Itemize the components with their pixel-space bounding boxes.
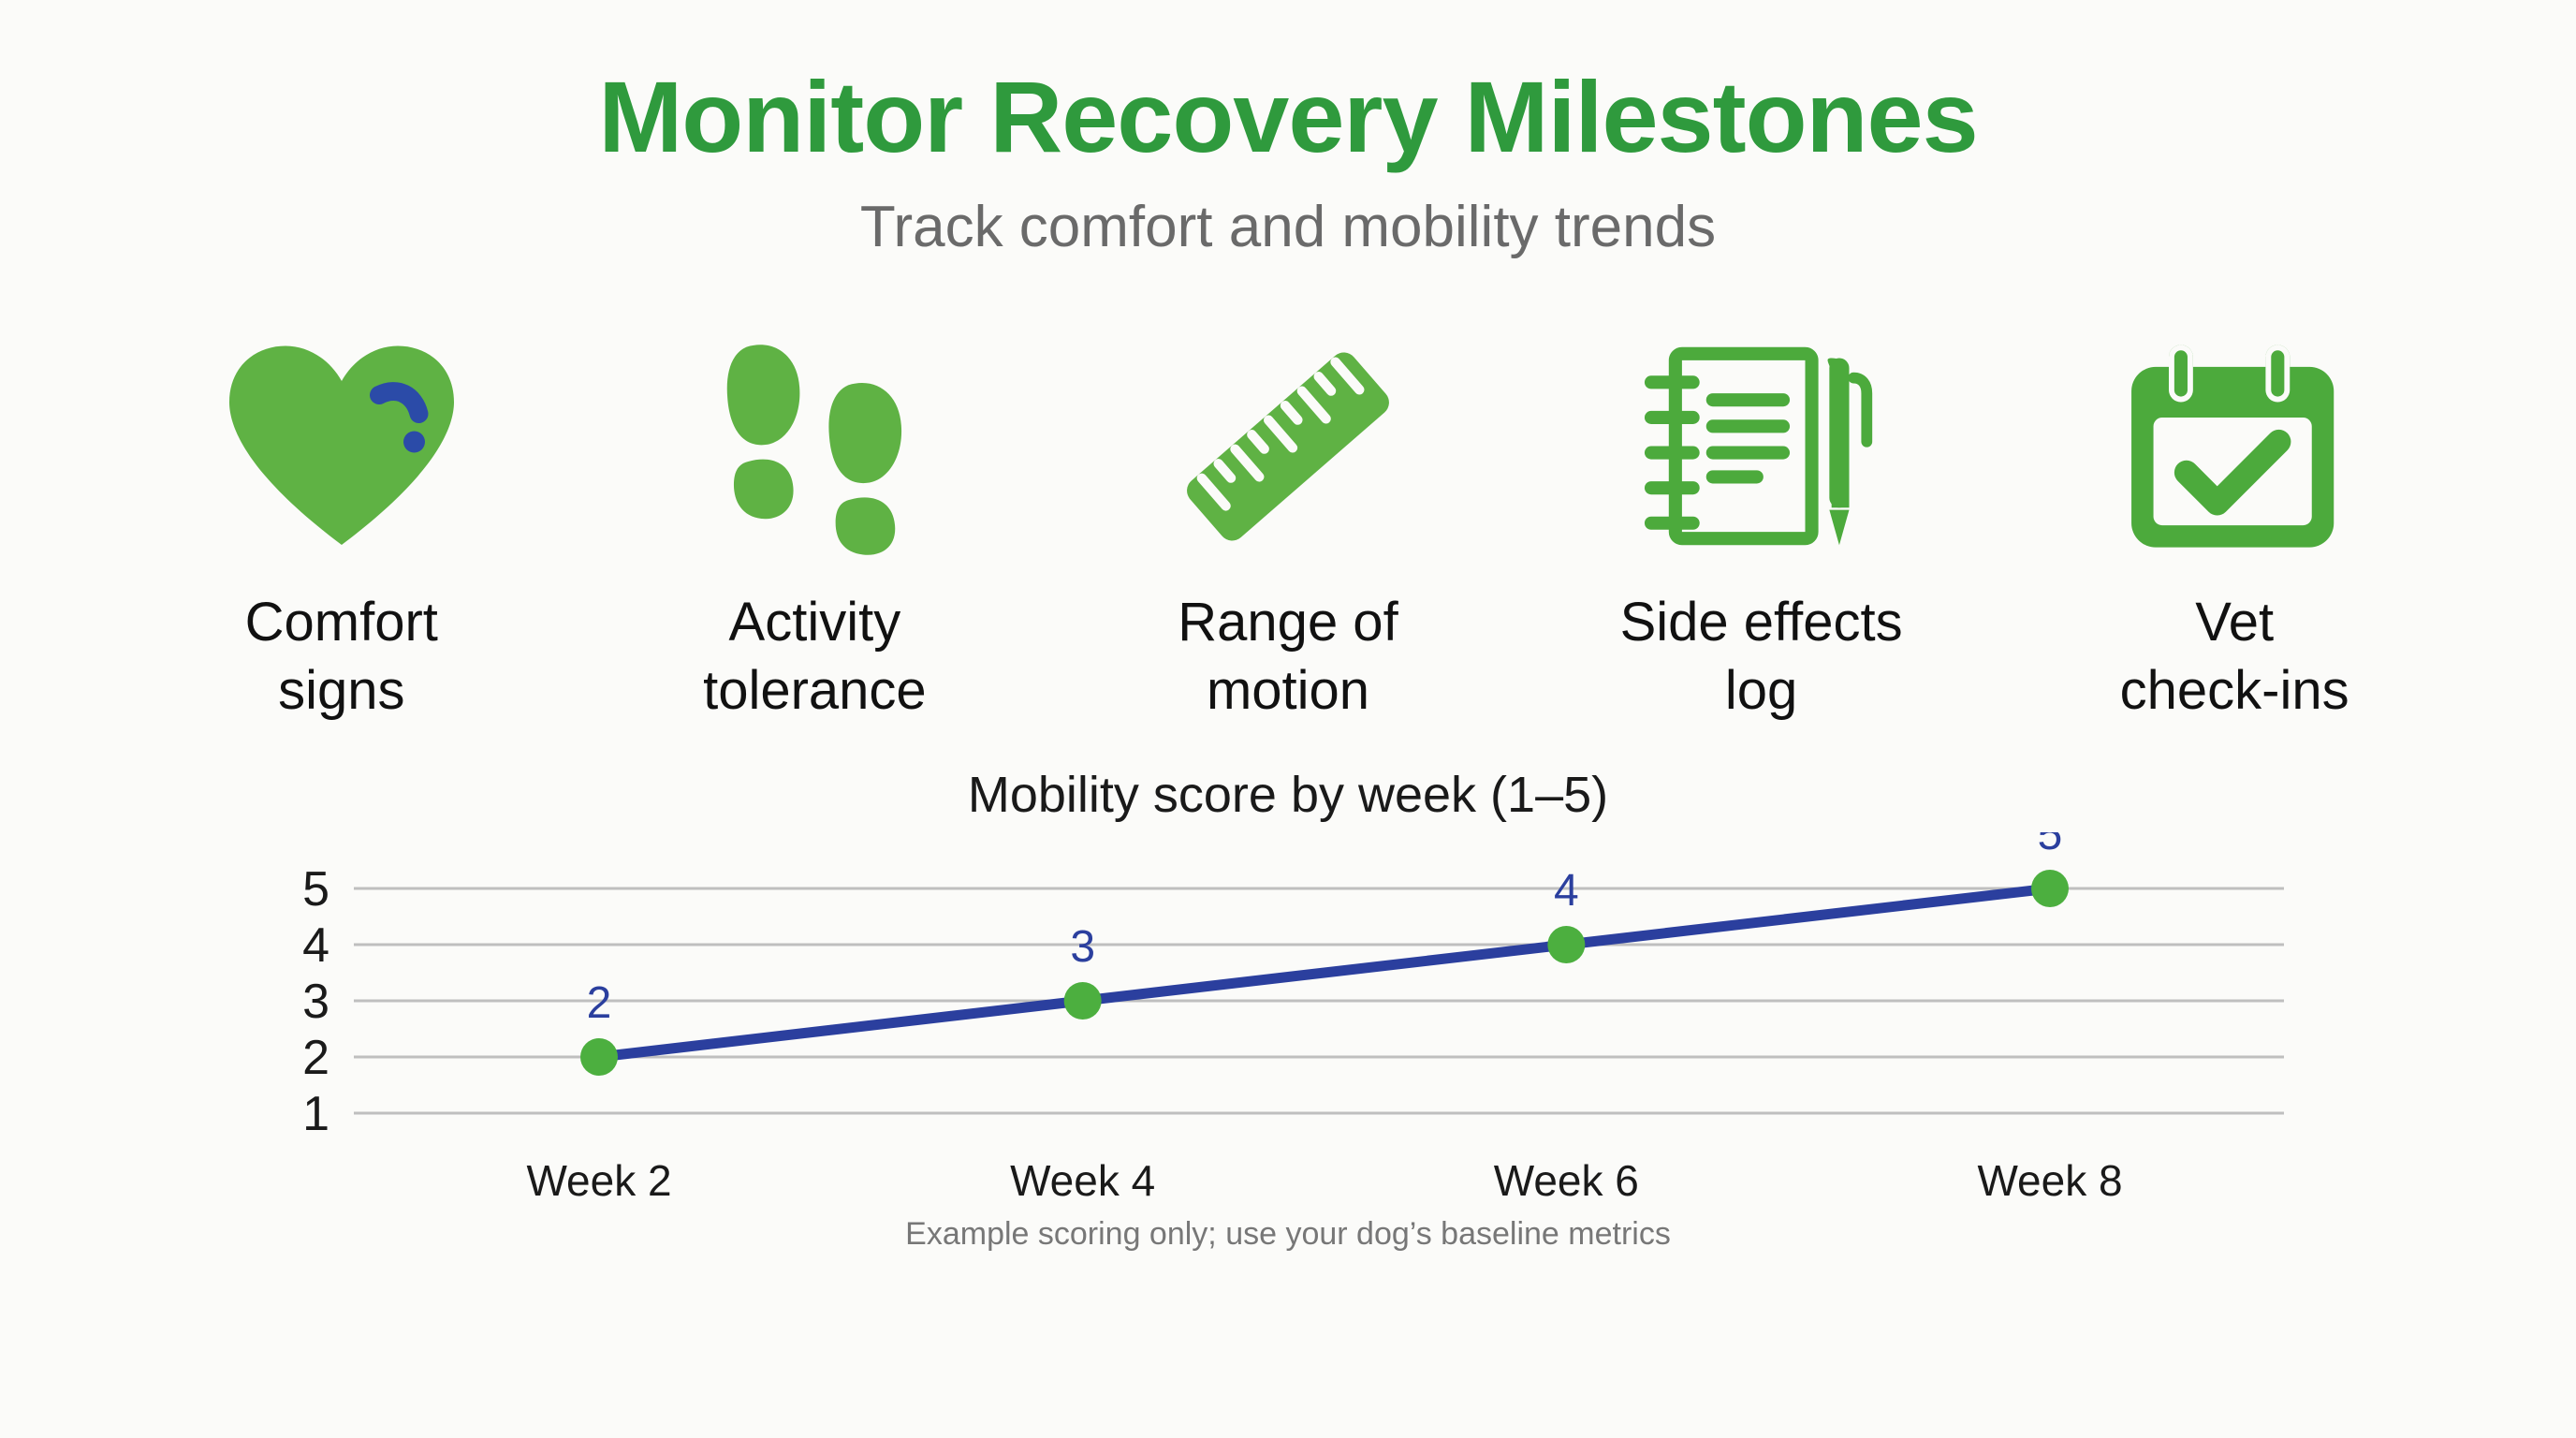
mobility-chart: Mobility score by week (1–5) 123452Week … xyxy=(0,768,2576,1253)
chart-data-point[interactable] xyxy=(1064,982,1102,1020)
milestone-label-line2: check-ins xyxy=(2120,656,2349,725)
y-axis-tick-label: 5 xyxy=(302,862,329,917)
chart-data-label: 2 xyxy=(587,978,612,1028)
milestone-label-comfort-signs: Comfort signs xyxy=(245,588,438,725)
chart-plot-area: 123452Week 23Week 44Week 65Week 8 xyxy=(0,832,2576,1207)
y-axis-tick-label: 1 xyxy=(302,1087,329,1141)
chart-data-point[interactable] xyxy=(580,1038,618,1076)
y-axis-tick-label: 3 xyxy=(302,975,329,1029)
milestone-card-comfort-signs[interactable]: Comfort signs xyxy=(105,330,578,725)
header: Monitor Recovery Milestones Track comfor… xyxy=(0,0,2576,260)
chart-data-label: 3 xyxy=(1070,922,1095,972)
milestone-label-line2: signs xyxy=(245,656,438,725)
x-axis-tick-label: Week 4 xyxy=(1010,1156,1155,1205)
y-axis-tick-label: 2 xyxy=(302,1031,329,1085)
milestone-label-line1: Side effects xyxy=(1620,588,1903,656)
chart-series-line xyxy=(599,888,2050,1057)
milestone-label-activity-tolerance: Activity tolerance xyxy=(703,588,927,725)
milestone-label-line1: Vet xyxy=(2120,588,2349,656)
milestone-label-line1: Activity xyxy=(703,588,927,656)
chart-data-label: 5 xyxy=(2038,832,2063,859)
chart-title: Mobility score by week (1–5) xyxy=(0,768,2576,823)
chart-caption: Example scoring only; use your dog’s bas… xyxy=(0,1216,2576,1253)
milestone-label-range-of-motion: Range of motion xyxy=(1178,588,1398,725)
chart-data-point[interactable] xyxy=(2031,870,2069,907)
slide-root: Monitor Recovery Milestones Track comfor… xyxy=(0,0,2576,1438)
chart-data-label: 4 xyxy=(1554,866,1579,916)
chart-canvas: 123452Week 23Week 44Week 65Week 8 xyxy=(0,832,2576,1207)
heart-icon xyxy=(225,330,459,564)
milestone-card-activity-tolerance[interactable]: Activity tolerance xyxy=(578,330,1052,725)
notebook-pen-icon xyxy=(1637,330,1885,564)
x-axis-tick-label: Week 8 xyxy=(1977,1156,2122,1205)
milestone-label-side-effects-log: Side effects log xyxy=(1620,588,1903,725)
milestone-label-line2: motion xyxy=(1178,656,1398,725)
milestone-label-line1: Comfort xyxy=(245,588,438,656)
milestone-label-vet-check-ins: Vet check-ins xyxy=(2120,588,2349,725)
calendar-check-icon xyxy=(2120,330,2349,564)
x-axis-tick-label: Week 2 xyxy=(526,1156,671,1205)
page-subtitle: Track comfort and mobility trends xyxy=(0,196,2576,259)
milestone-card-range-of-motion[interactable]: Range of motion xyxy=(1051,330,1525,725)
milestone-card-vet-check-ins[interactable]: Vet check-ins xyxy=(1998,330,2471,725)
milestone-icon-row: Comfort signs Activity tolerance xyxy=(0,260,2576,725)
page-title: Monitor Recovery Milestones xyxy=(0,64,2576,169)
x-axis-tick-label: Week 6 xyxy=(1494,1156,1639,1205)
milestone-label-line1: Range of xyxy=(1178,588,1398,656)
chart-data-point[interactable] xyxy=(1547,926,1585,963)
milestone-label-line2: tolerance xyxy=(703,656,927,725)
ruler-icon xyxy=(1166,330,1410,564)
footprints-icon xyxy=(721,330,908,564)
milestone-card-side-effects-log[interactable]: Side effects log xyxy=(1525,330,1998,725)
y-axis-tick-label: 4 xyxy=(302,918,329,973)
milestone-label-line2: log xyxy=(1620,656,1903,725)
